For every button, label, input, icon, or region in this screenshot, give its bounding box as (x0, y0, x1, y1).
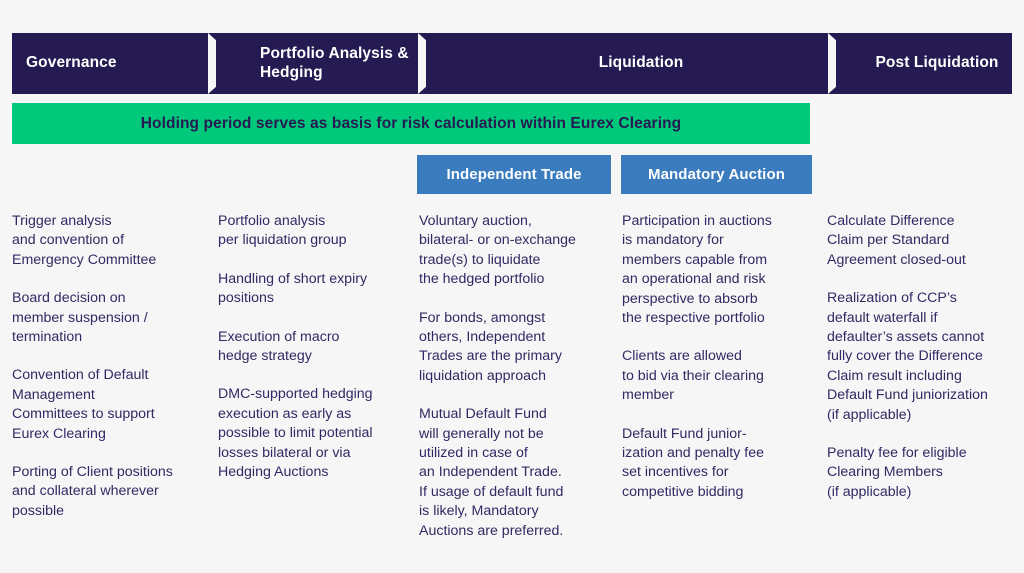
holding-period-banner-label: Holding period serves as basis for risk … (141, 115, 681, 133)
phase-ribbon: Governance Portfolio Analysis & Hedging … (12, 33, 1012, 94)
phase-label: Portfolio Analysis & Hedging (260, 45, 409, 82)
column-paragraph: Mutual Default Fund will generally not b… (419, 405, 614, 541)
column-paragraph: Execution of macro hedge strategy (218, 328, 414, 367)
column-paragraph: DMC-supported hedging execution as early… (218, 385, 414, 482)
column-paragraph: Porting of Client positions and collater… (12, 463, 212, 521)
subheader-label: Independent Trade (446, 166, 581, 183)
column-paragraph: Convention of Default Management Committ… (12, 366, 212, 444)
column-paragraph: Default Fund junior- ization and penalty… (622, 425, 812, 503)
column-paragraph: Clients are allowed to bid via their cle… (622, 347, 812, 405)
phase-label-group: Governance Portfolio Analysis & Hedging … (12, 33, 1012, 94)
column-paragraph: For bonds, amongst others, Independent T… (419, 309, 614, 387)
column-paragraph: Penalty fee for eligible Clearing Member… (827, 444, 1019, 502)
column-portfolio-analysis-hedging: Portfolio analysis per liquidation group… (218, 212, 414, 482)
phase-liquidation[interactable]: Liquidation (452, 33, 830, 94)
content-columns: Trigger analysis and convention of Emerg… (0, 212, 1024, 562)
phase-portfolio-analysis-hedging[interactable]: Portfolio Analysis & Hedging (248, 33, 420, 94)
column-independent-trade: Voluntary auction, bilateral- or on-exch… (419, 212, 614, 541)
subheader-independent-trade[interactable]: Independent Trade (417, 155, 611, 194)
subheader-label: Mandatory Auction (648, 166, 785, 183)
column-paragraph: Voluntary auction, bilateral- or on-exch… (419, 212, 614, 290)
column-paragraph: Realization of CCP’s default waterfall i… (827, 289, 1019, 425)
default-management-process-diagram: Governance Portfolio Analysis & Hedging … (0, 0, 1024, 573)
column-paragraph: Trigger analysis and convention of Emerg… (12, 212, 212, 270)
subheader-mandatory-auction[interactable]: Mandatory Auction (621, 155, 812, 194)
phase-label: Governance (26, 54, 117, 73)
column-paragraph: Handling of short expiry positions (218, 270, 414, 309)
phase-label: Liquidation (599, 54, 684, 73)
phase-label: Post Liquidation (875, 54, 998, 73)
holding-period-banner: Holding period serves as basis for risk … (12, 103, 810, 144)
column-post-liquidation: Calculate Difference Claim per Standard … (827, 212, 1019, 502)
column-paragraph: Calculate Difference Claim per Standard … (827, 212, 1019, 270)
column-governance: Trigger analysis and convention of Emerg… (12, 212, 212, 521)
column-paragraph: Board decision on member suspension / te… (12, 289, 212, 347)
phase-post-liquidation[interactable]: Post Liquidation (862, 33, 1012, 94)
column-paragraph: Portfolio analysis per liquidation group (218, 212, 414, 251)
phase-governance[interactable]: Governance (12, 33, 208, 94)
column-paragraph: Participation in auctions is mandatory f… (622, 212, 812, 328)
column-mandatory-auction: Participation in auctions is mandatory f… (622, 212, 812, 502)
